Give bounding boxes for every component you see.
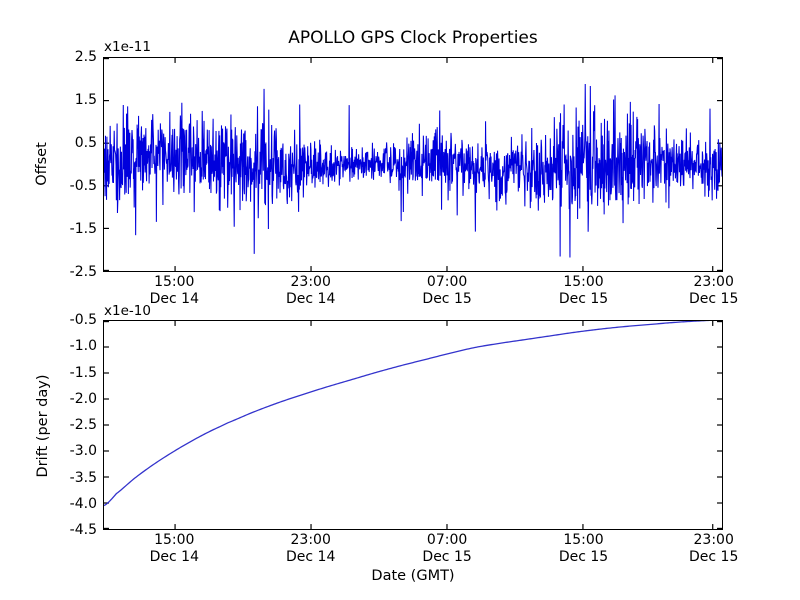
drift-exponent-label: x1e-10 <box>104 303 151 319</box>
drift-ytick-labels: -0.5-1.0-1.5-2.0-2.5-3.0-3.5-4.0-4.5 <box>51 320 97 530</box>
xtick-label: 23:00Dec 15 <box>689 274 738 308</box>
offset-line <box>104 84 722 257</box>
ytick-label: -3.5 <box>70 470 97 486</box>
offset-series-svg <box>104 58 722 271</box>
offset-plot-axes <box>103 57 723 272</box>
offset-exponent-label: x1e-11 <box>104 39 151 55</box>
xtick-label: 15:00Dec 15 <box>559 532 608 566</box>
xtick-label: 07:00Dec 15 <box>422 274 471 308</box>
xtick-label: 15:00Dec 14 <box>150 274 199 308</box>
ytick-label: -2.0 <box>70 391 97 407</box>
chart-title: APOLLO GPS Clock Properties <box>103 28 723 48</box>
xtick-label: 15:00Dec 14 <box>150 532 199 566</box>
ytick-label: -1.0 <box>70 338 97 354</box>
drift-axis-label: Drift (per day) <box>35 366 51 486</box>
ytick-label: -0.5 <box>70 178 97 194</box>
ytick-label: -3.0 <box>70 443 97 459</box>
ytick-label: -1.5 <box>70 221 97 237</box>
drift-series-svg <box>104 321 722 529</box>
offset-axis-label: Offset <box>34 119 50 209</box>
xtick-label: 23:00Dec 15 <box>689 532 738 566</box>
ytick-label: -1.5 <box>70 365 97 381</box>
xtick-label: 23:00Dec 14 <box>286 274 335 308</box>
drift-plot-axes <box>103 320 723 530</box>
x-axis-label: Date (GMT) <box>103 568 723 584</box>
xtick-label: 23:00Dec 14 <box>286 532 335 566</box>
ytick-label: -0.5 <box>70 312 97 328</box>
drift-xtick-labels: 15:00Dec 1423:00Dec 1407:00Dec 1515:00De… <box>0 532 800 572</box>
ytick-label: -2.5 <box>70 417 97 433</box>
drift-line <box>104 321 722 506</box>
xtick-label: 15:00Dec 15 <box>559 274 608 308</box>
ytick-label: 0.5 <box>75 135 97 151</box>
figure-canvas: APOLLO GPS Clock Properties x1e-11 2.51.… <box>0 0 800 600</box>
xtick-label: 07:00Dec 15 <box>422 532 471 566</box>
offset-ytick-labels: 2.51.50.5-0.5-1.5-2.5 <box>51 57 97 272</box>
ytick-label: 2.5 <box>75 49 97 65</box>
ytick-label: -4.0 <box>70 496 97 512</box>
ytick-label: 1.5 <box>75 92 97 108</box>
